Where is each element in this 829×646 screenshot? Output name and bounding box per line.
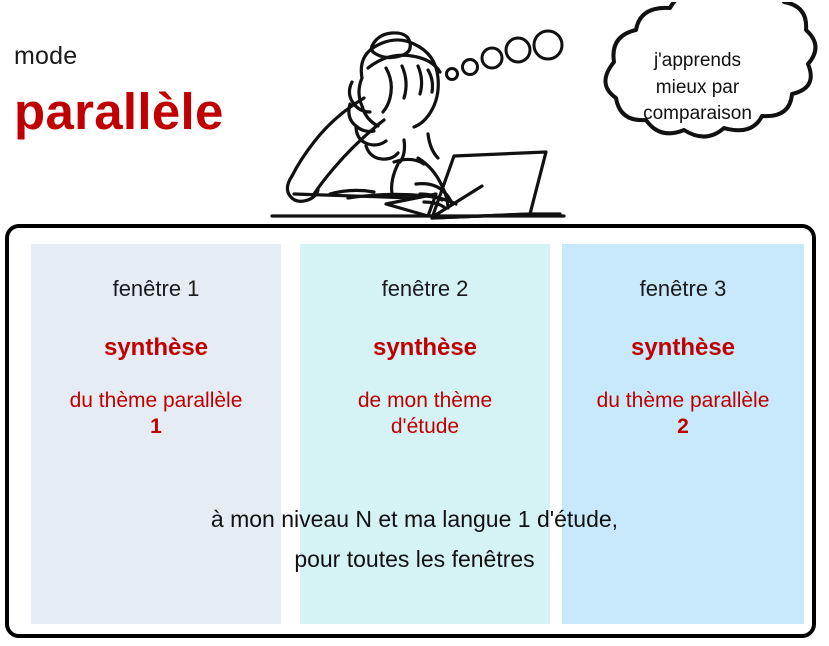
- panel-2-subtitle-line-1: de mon thème: [300, 388, 550, 414]
- panel-1-subtitle-line-2: 1: [31, 414, 281, 440]
- panel-1-synthese-label: synthèse: [31, 336, 281, 360]
- panel-2-content: fenêtre 2 synthèse de mon thème d'étude: [300, 244, 550, 624]
- panel-1-window-label: fenêtre 1: [31, 278, 281, 300]
- header-area: mode parallèle: [0, 0, 829, 224]
- thought-bubble: j'apprends mieux par comparaison: [552, 2, 829, 174]
- page-title: parallèle: [14, 86, 224, 137]
- panel-1-content: fenêtre 1 synthèse du thème parallèle 1: [31, 244, 281, 624]
- panel-3-subtitle-line-1: du thème parallèle: [562, 388, 804, 414]
- panel-1-subtitle: du thème parallèle 1: [31, 388, 281, 440]
- panel-3-window-label: fenêtre 3: [562, 278, 804, 300]
- mode-label: mode: [14, 44, 77, 69]
- panel-2-window-label: fenêtre 2: [300, 278, 550, 300]
- panel-3-subtitle: du thème parallèle 2: [562, 388, 804, 440]
- windows-container: fenêtre 1 synthèse du thème parallèle 1 …: [5, 224, 816, 638]
- panel-2-subtitle: de mon thème d'étude: [300, 388, 550, 440]
- panel-2-subtitle-line-2: d'étude: [300, 414, 550, 440]
- thought-trail-circles: [440, 22, 570, 82]
- panel-fenetre-3[interactable]: fenêtre 3 synthèse du thème parallèle 2: [562, 244, 804, 624]
- panel-1-subtitle-line-1: du thème parallèle: [31, 388, 281, 414]
- panel-3-content: fenêtre 3 synthèse du thème parallèle 2: [562, 244, 804, 624]
- panel-fenetre-1[interactable]: fenêtre 1 synthèse du thème parallèle 1: [31, 244, 281, 624]
- panel-3-subtitle-line-2: 2: [562, 414, 804, 440]
- panels-row: fenêtre 1 synthèse du thème parallèle 1 …: [9, 228, 820, 642]
- panel-3-synthese-label: synthèse: [562, 336, 804, 360]
- panel-fenetre-2[interactable]: fenêtre 2 synthèse de mon thème d'étude: [300, 244, 550, 624]
- panel-2-synthese-label: synthèse: [300, 336, 550, 360]
